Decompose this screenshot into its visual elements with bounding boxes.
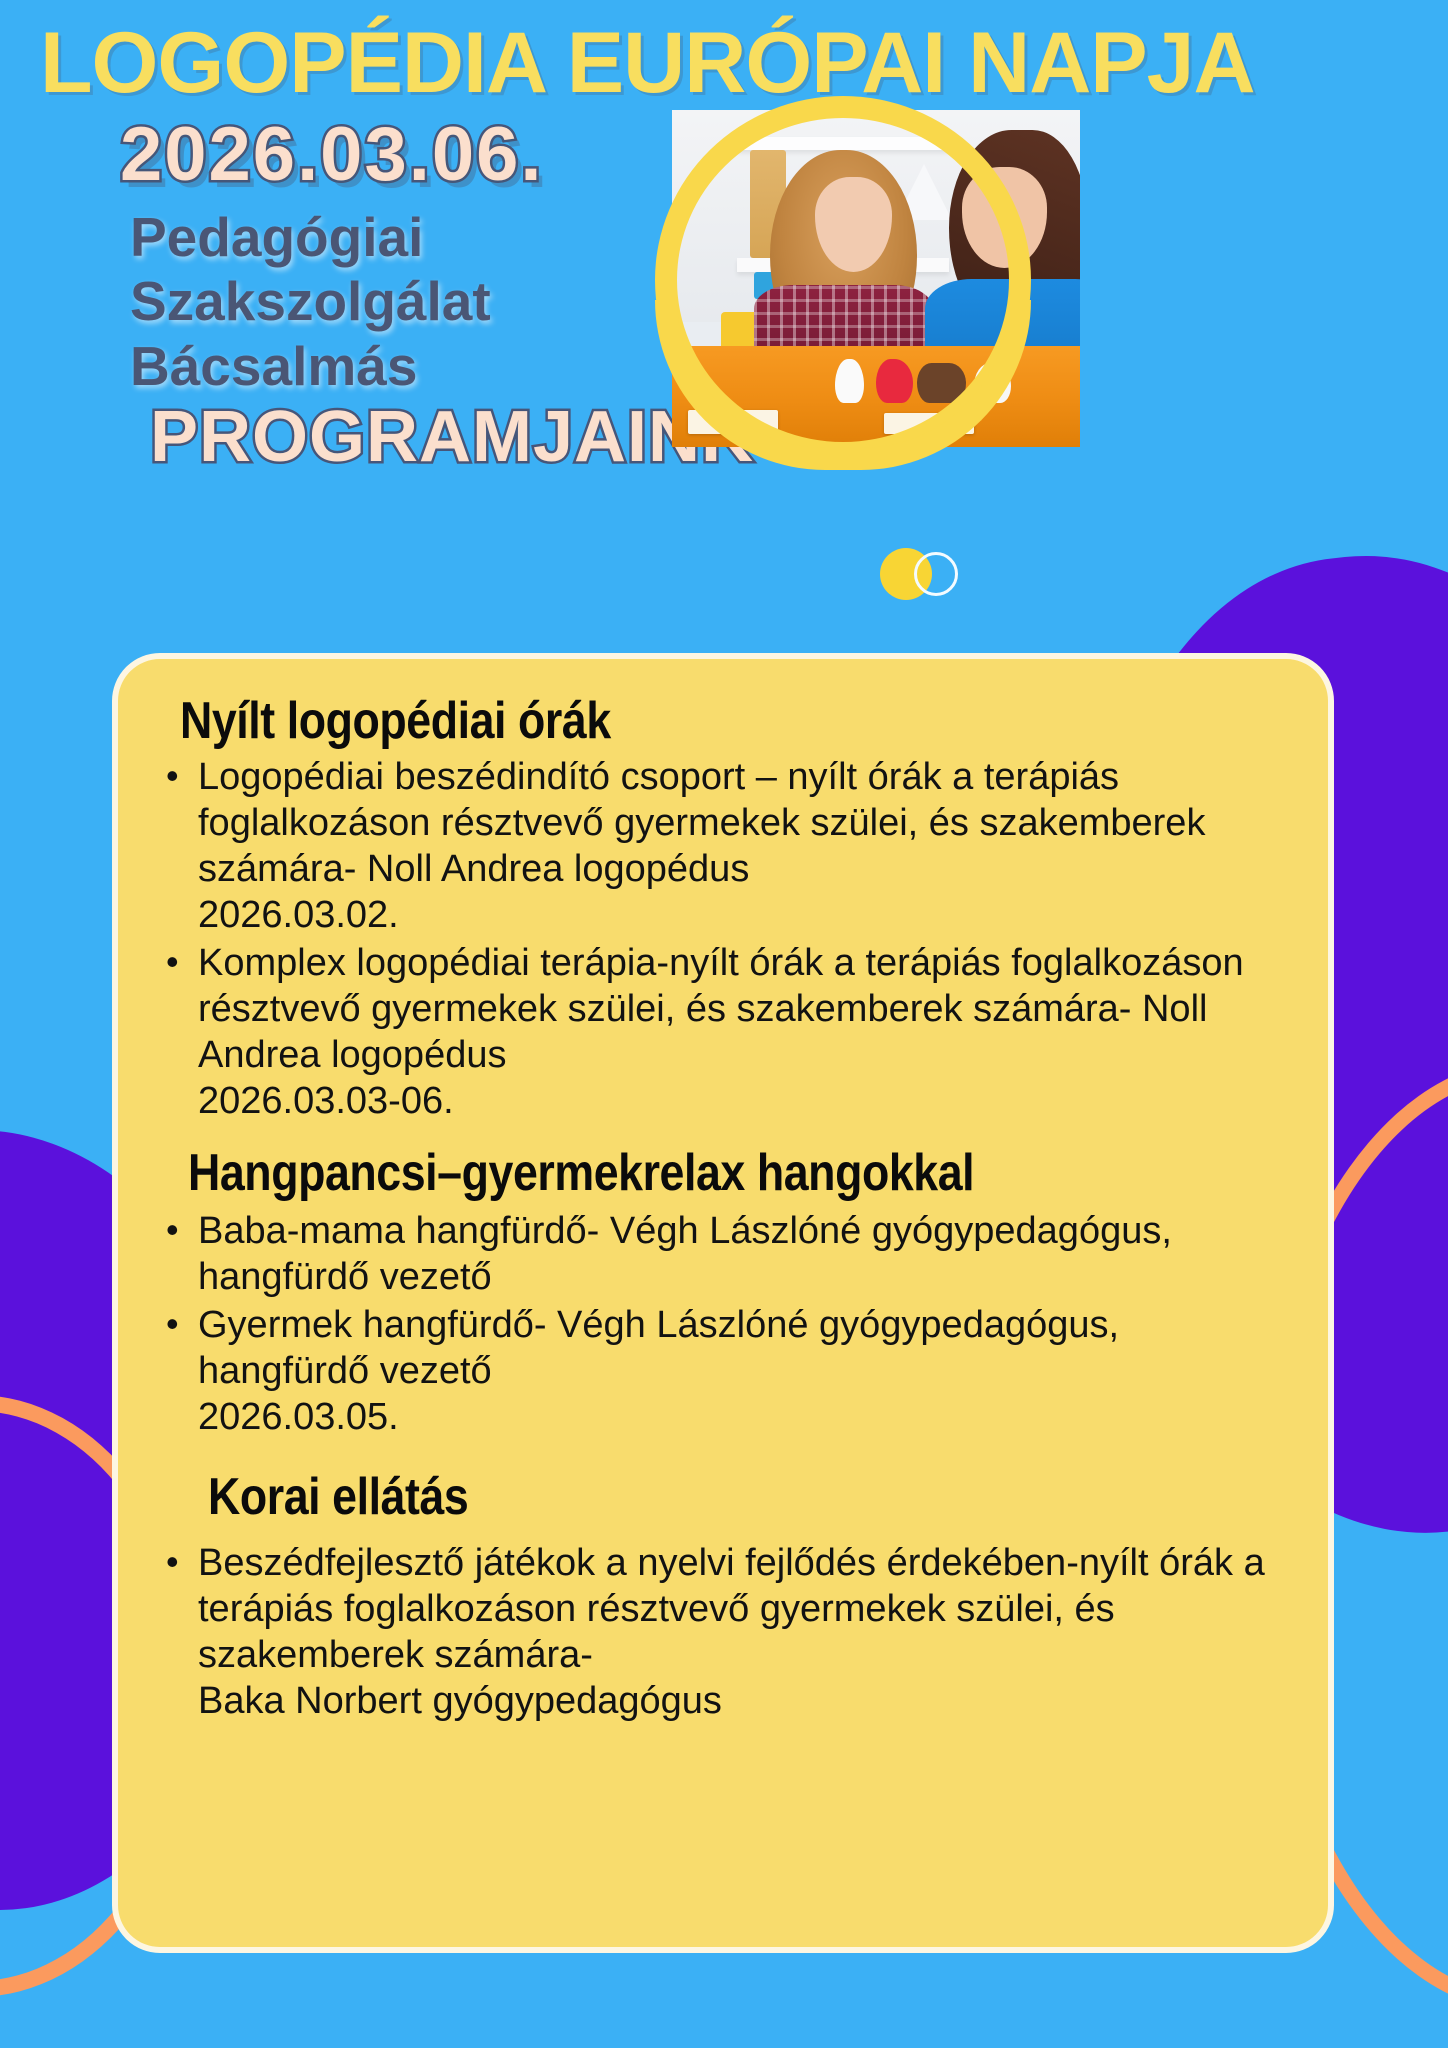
poster-headline: LOGOPÉDIA EURÓPAI NAPJA [40, 20, 1420, 106]
photo-toy-rabbit [835, 359, 864, 403]
photo-picture-card-left [688, 410, 778, 434]
list-item: Baba-mama hangfürdő- Végh Lászlóné gyógy… [152, 1209, 1294, 1301]
organization-line-1: Pedagógiai [130, 205, 650, 269]
section-list-nyilt-logopediai-orak: Logopédiai beszédindító csoport – nyílt … [152, 755, 1294, 1125]
list-item: Logopédiai beszédindító csoport – nyílt … [152, 755, 1294, 939]
list-item-date: 2026.03.02. [198, 893, 1294, 939]
section-title-hangpancsi: Hangpancsi–gyermekrelax hangokkal [188, 1143, 1139, 1203]
photo-scene [672, 110, 1080, 447]
organization-line-3: Bácsalmás [130, 334, 650, 398]
therapy-photo [672, 110, 1080, 447]
list-item-text: Beszédfejlesztő játékok a nyelvi fejlődé… [198, 1542, 1265, 1676]
list-item-presenter: Baka Norbert gyógypedagógus [198, 1679, 1294, 1725]
list-item-text: Gyermek hangfürdő- Végh Lászlóné gyógype… [198, 1304, 1119, 1392]
section-title-nyilt-logopediai-orak: Nyílt logopédiai órák [180, 691, 1138, 751]
organization-line-2: Szakszolgálat [130, 269, 650, 333]
programs-title: PROGRAMJAINK [150, 400, 754, 476]
programs-card: Nyílt logopédiai órák Logopédiai beszédi… [112, 653, 1334, 1953]
section-title-korai-ellatas: Korai ellátás [208, 1467, 1142, 1527]
section-list-korai-ellatas: Beszédfejlesztő játékok a nyelvi fejlődé… [152, 1541, 1294, 1725]
poster-root: LOGOPÉDIA EURÓPAI NAPJA 2026.03.06. Peda… [0, 0, 1448, 2048]
photo-shelf-top [737, 137, 949, 150]
photo-picture-card-right [884, 413, 974, 433]
organization-name: Pedagógiai Szakszolgálat Bácsalmás [130, 205, 650, 398]
list-item-text: Logopédiai beszédindító csoport – nyílt … [198, 756, 1205, 890]
list-item-date: 2026.03.03-06. [198, 1079, 1294, 1125]
list-item: Gyermek hangfürdő- Végh Lászlóné gyógype… [152, 1303, 1294, 1441]
list-item-date: 2026.03.05. [198, 1395, 1294, 1441]
list-item-text: Baba-mama hangfürdő- Végh Lászlóné gyógy… [198, 1210, 1172, 1298]
photo-toy-rooster [876, 359, 913, 403]
list-item: Beszédfejlesztő játékok a nyelvi fejlődé… [152, 1541, 1294, 1725]
list-item-text: Komplex logopédiai terápia-nyílt órák a … [198, 942, 1244, 1076]
section-list-hangpancsi: Baba-mama hangfürdő- Végh Lászlóné gyógy… [152, 1209, 1294, 1441]
list-item: Komplex logopédiai terápia-nyílt órák a … [152, 941, 1294, 1125]
event-date: 2026.03.06. [120, 115, 544, 195]
photo-toy-goose [974, 363, 1011, 403]
speech-bubble-dots-icon [880, 546, 980, 606]
outline-circle-icon [914, 552, 958, 596]
photo-toy-horse [917, 363, 966, 403]
